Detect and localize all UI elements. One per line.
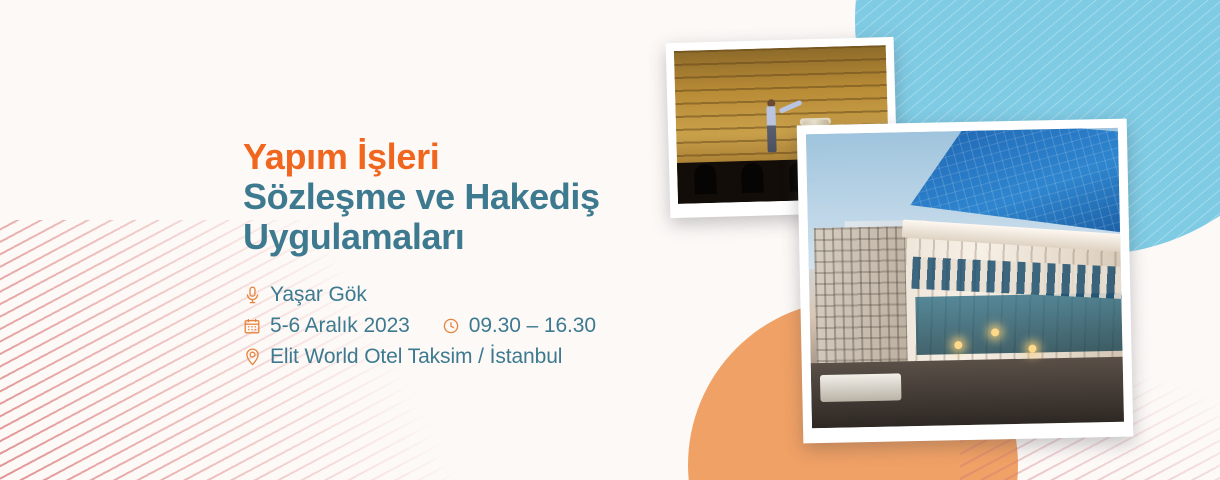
detail-row-date-time: 5-6 Aralık 2023 09.30 – 16.30 — [243, 311, 663, 342]
title-line-1: Yapım İşleri — [243, 138, 663, 177]
time-item: 09.30 – 16.30 — [442, 314, 596, 338]
title-line-3: Uygulamaları — [243, 217, 663, 257]
bus — [820, 373, 902, 401]
event-details: Yaşar Gök — [243, 280, 663, 373]
clock-icon — [442, 317, 460, 335]
microphone-icon — [243, 286, 261, 304]
hotel-building-photo — [797, 119, 1134, 444]
speaker-item: Yaşar Gök — [243, 283, 367, 307]
hotel-exterior-scene — [806, 128, 1124, 428]
audience-head — [694, 164, 717, 195]
detail-row-speaker: Yaşar Gök — [243, 280, 663, 311]
calendar-icon — [243, 317, 261, 335]
glass-window-band — [915, 292, 1122, 355]
audience-head — [741, 162, 764, 193]
street-lamp — [954, 341, 962, 349]
date-item: 5-6 Aralık 2023 — [243, 314, 410, 338]
venue-name: Elit World Otel Taksim / İstanbul — [270, 345, 562, 369]
detail-row-venue: Elit World Otel Taksim / İstanbul — [243, 342, 663, 373]
banner-text-block: Yapım İşleri Sözleşme ve Hakediş Uygulam… — [243, 138, 663, 373]
speaker-body — [767, 106, 777, 152]
event-time: 09.30 – 16.30 — [469, 314, 596, 338]
location-pin-icon — [243, 348, 261, 366]
event-promo-banner: Yapım İşleri Sözleşme ve Hakediş Uygulam… — [0, 0, 1220, 480]
street-lamp — [991, 328, 999, 336]
venue-item: Elit World Otel Taksim / İstanbul — [243, 345, 562, 369]
speaker-name: Yaşar Gök — [270, 283, 367, 307]
title-line-2: Sözleşme ve Hakediş — [243, 177, 663, 217]
hotel-photo-content — [806, 128, 1124, 428]
event-date: 5-6 Aralık 2023 — [270, 314, 410, 338]
